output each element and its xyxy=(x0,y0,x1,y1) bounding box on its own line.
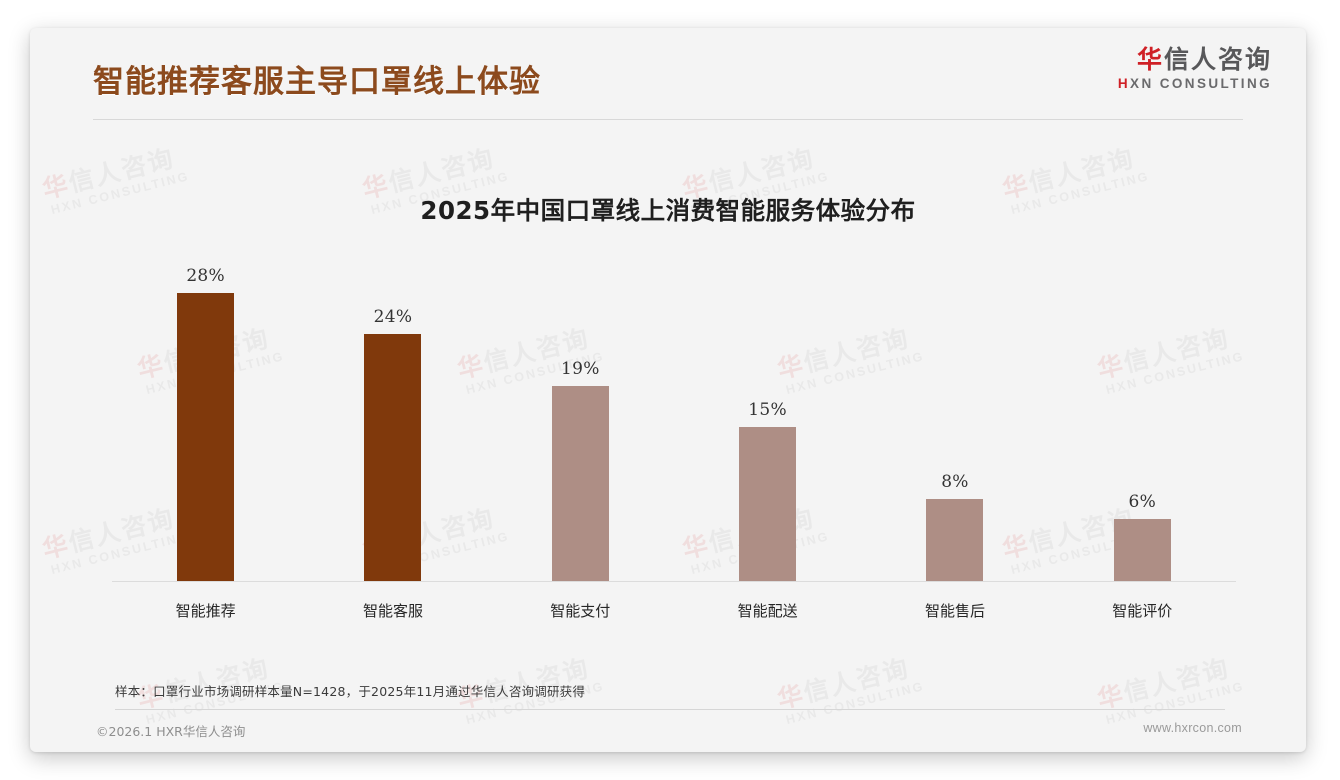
brand-logo-en-rest: XN CONSULTING xyxy=(1130,76,1272,91)
bar-category-label: 智能客服 xyxy=(363,600,423,621)
bar-rect[interactable] xyxy=(739,427,796,581)
slide-footer: ©2026.1 HXR华信人咨询 www.hxrcon.com xyxy=(30,710,1306,752)
bar-slot: 28%智能推荐 xyxy=(112,252,299,581)
brand-logo-rest-chars: 信人咨询 xyxy=(1164,45,1272,74)
bar-value-label: 28% xyxy=(186,266,225,286)
bar-rect[interactable] xyxy=(364,334,421,581)
bar-rect[interactable] xyxy=(177,293,234,581)
slide-canvas: 华信人咨询HXN CONSULTING华信人咨询HXN CONSULTING华信… xyxy=(30,28,1306,752)
bar-value-label: 8% xyxy=(941,472,969,492)
bar-rect[interactable] xyxy=(552,386,609,581)
brand-logo: 华信人咨询 HXN CONSULTING xyxy=(1118,47,1272,91)
bar-series: 28%智能推荐24%智能客服19%智能支付15%智能配送8%智能售后6%智能评价 xyxy=(112,252,1236,581)
brand-logo-chinese: 华信人咨询 xyxy=(1118,47,1272,73)
x-axis-line xyxy=(112,581,1236,582)
bar-slot: 6%智能评价 xyxy=(1049,252,1236,581)
bar-value-label: 15% xyxy=(748,400,787,420)
page-title: 智能推荐客服主导口罩线上体验 xyxy=(93,56,541,101)
brand-logo-english: HXN CONSULTING xyxy=(1118,76,1272,91)
copyright-text: ©2026.1 HXR华信人咨询 xyxy=(96,721,245,740)
bar-category-label: 智能推荐 xyxy=(176,600,236,621)
brand-logo-h-char: H xyxy=(1118,76,1130,91)
bar-slot: 8%智能售后 xyxy=(861,252,1048,581)
footnote-text: 样本：口罩行业市场调研样本量N=1428，于2025年11月通过华信人咨询调研获… xyxy=(115,681,585,700)
bar-value-label: 24% xyxy=(374,307,413,327)
bar-value-label: 6% xyxy=(1129,492,1157,512)
bar-slot: 19%智能支付 xyxy=(487,252,674,581)
chart-region: 2025年中国口罩线上消费智能服务体验分布 28%智能推荐24%智能客服19%智… xyxy=(30,148,1306,648)
brand-logo-hua-char: 华 xyxy=(1137,45,1164,74)
bar-chart-plot: 28%智能推荐24%智能客服19%智能支付15%智能配送8%智能售后6%智能评价 xyxy=(80,252,1256,582)
bar-slot: 24%智能客服 xyxy=(299,252,486,581)
bar-value-label: 19% xyxy=(561,359,600,379)
website-link[interactable]: www.hxrcon.com xyxy=(1143,721,1242,735)
bar-category-label: 智能支付 xyxy=(550,600,610,621)
slide-header: 智能推荐客服主导口罩线上体验 华信人咨询 HXN CONSULTING xyxy=(30,28,1306,120)
header-divider xyxy=(93,119,1243,120)
bar-category-label: 智能售后 xyxy=(925,600,985,621)
bar-rect[interactable] xyxy=(926,499,983,581)
bar-rect[interactable] xyxy=(1114,519,1171,581)
bar-slot: 15%智能配送 xyxy=(674,252,861,581)
bar-category-label: 智能评价 xyxy=(1112,600,1172,621)
bar-category-label: 智能配送 xyxy=(738,600,798,621)
chart-title: 2025年中国口罩线上消费智能服务体验分布 xyxy=(30,192,1306,227)
